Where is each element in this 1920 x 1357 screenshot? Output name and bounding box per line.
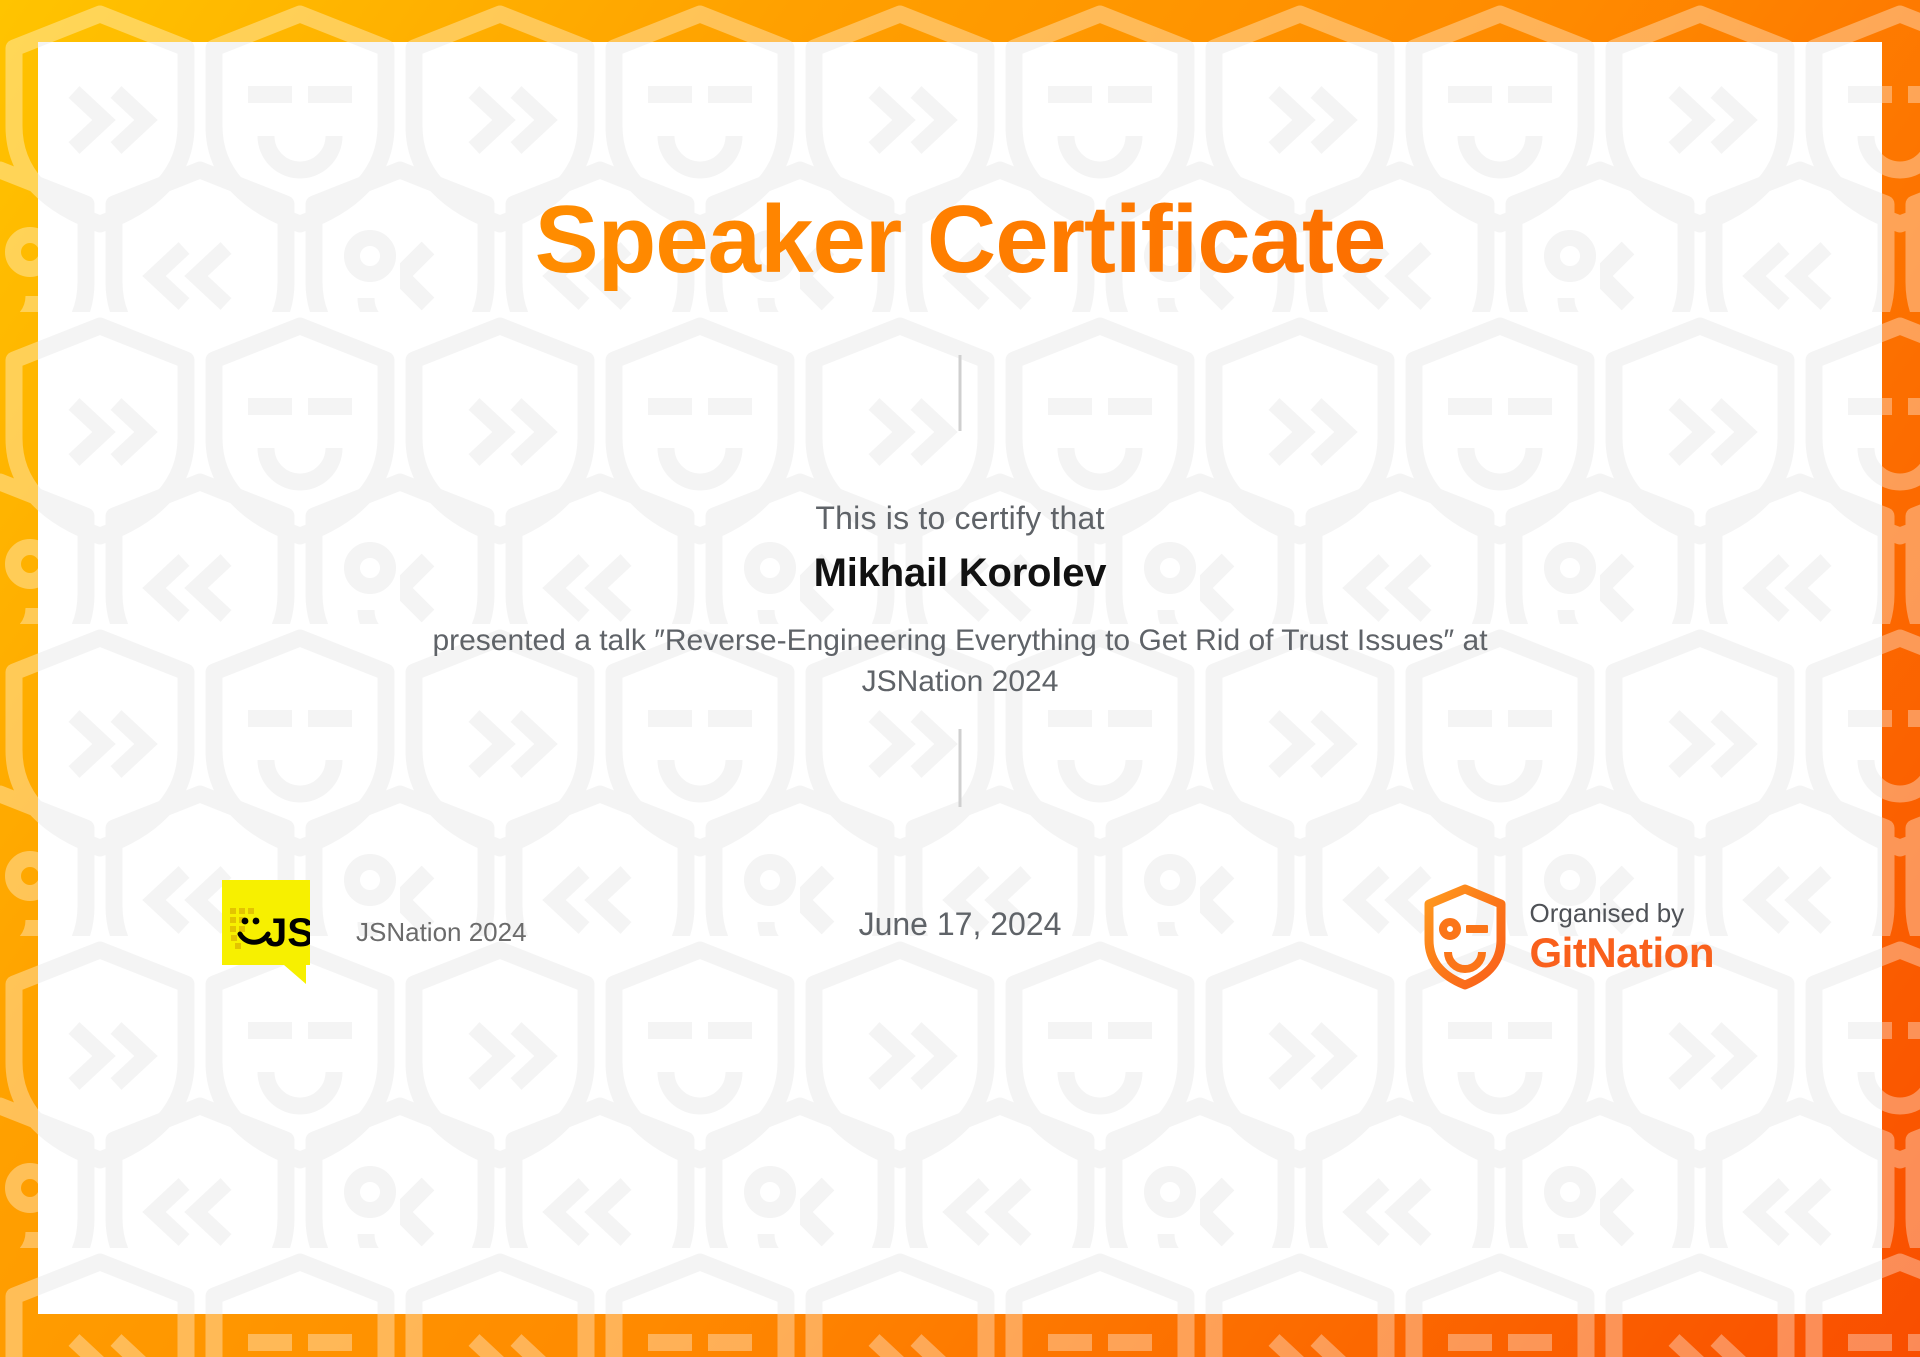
divider-top xyxy=(959,355,962,431)
gitnation-shield-icon xyxy=(1422,884,1508,990)
certificate-title: Speaker Certificate xyxy=(38,190,1882,291)
certificate-footer: JS JSNation 2024 June 17, 2024 xyxy=(38,880,1882,1010)
talk-description: presented a talk ″Reverse-Engineering Ev… xyxy=(238,620,1682,703)
certificate-card: Speaker Certificate This is to certify t… xyxy=(0,0,1920,1357)
recipient-name: Mikhail Korolev xyxy=(38,551,1882,596)
organised-by-label: Organised by xyxy=(1530,899,1714,929)
event-name-line: JSNation 2024 xyxy=(238,661,1682,702)
organiser-text-stack: Organised by GitNation xyxy=(1530,899,1714,975)
divider-bottom xyxy=(959,729,962,807)
talk-title-line: presented a talk ″Reverse-Engineering Ev… xyxy=(432,624,1487,657)
organiser-group: Organised by GitNation xyxy=(1422,884,1714,990)
certificate-inner-panel: Speaker Certificate This is to certify t… xyxy=(38,42,1882,1314)
organiser-name: GitNation xyxy=(1530,931,1714,975)
certify-line: This is to certify that xyxy=(38,500,1882,537)
